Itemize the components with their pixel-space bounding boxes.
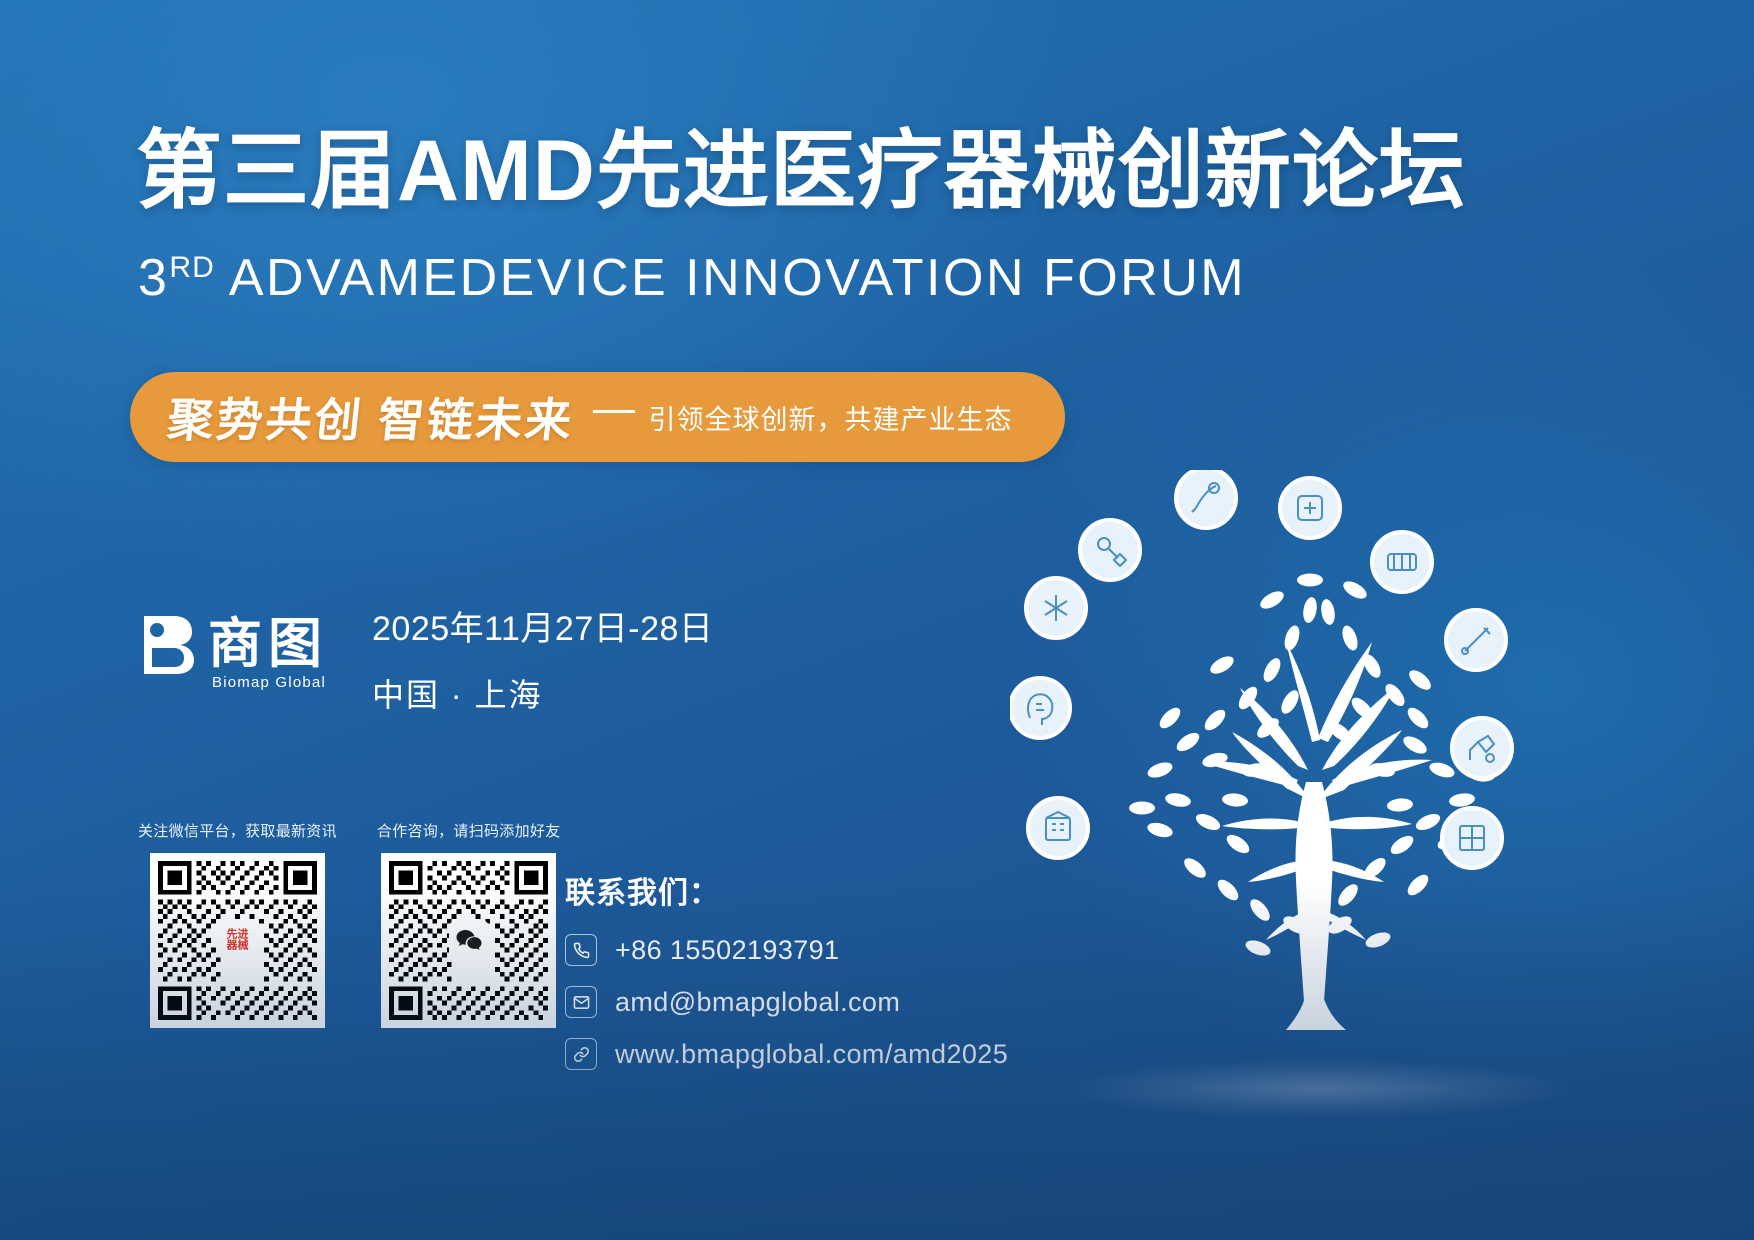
- event-poster: 第三届AMD先进医疗器械创新论坛 3RD ADVAMEDEVICE INNOVA…: [0, 0, 1754, 1240]
- tree-icon-bubbles: [1010, 470, 1512, 868]
- event-date: 2025年11月27日-28日: [372, 612, 713, 648]
- brand-name-en: Biomap Global: [212, 674, 326, 691]
- contact-section: 联系我们： +86 15502193791 amd@bmapglobal.com: [565, 868, 1008, 1090]
- mail-icon: [565, 986, 597, 1018]
- page-subtitle: 3RD ADVAMEDEVICE INNOVATION FORUM: [138, 252, 1246, 304]
- brand-logo: 商图 Biomap Global: [140, 612, 328, 676]
- link-icon: [565, 1038, 597, 1070]
- contact-row-email: amd@bmapglobal.com: [565, 986, 1008, 1018]
- contact-row-website: www.bmapglobal.com/amd2025: [565, 1038, 1008, 1070]
- qr-center-label: 先进 器械: [222, 926, 252, 955]
- contact-title: 联系我们：: [565, 868, 1008, 912]
- page-title: 第三届AMD先进医疗器械创新论坛: [136, 128, 1516, 216]
- phone-icon: [565, 934, 597, 966]
- biomap-logo-icon: [140, 612, 196, 676]
- slogan-main-text: 聚势共创 智链未来: [165, 384, 578, 450]
- wechat-icon: [449, 921, 489, 961]
- qr-code-section: 关注微信平台，获取最新资讯: [138, 820, 561, 1028]
- qr-center-line-2: 器械: [226, 941, 248, 953]
- contact-value-email[interactable]: amd@bmapglobal.com: [615, 987, 900, 1018]
- qr-code-wechat-contact[interactable]: [381, 853, 556, 1028]
- slogan-divider-dash: [593, 410, 635, 413]
- qr-caption: 关注微信平台，获取最新资讯: [138, 820, 337, 841]
- qr-center-line-1: 先进: [226, 929, 248, 941]
- subtitle-ordinal-suffix: RD: [169, 251, 214, 284]
- medical-technology-tree-illustration: [1010, 470, 1630, 1070]
- qr-code-wechat-official[interactable]: 先进 器械: [150, 853, 325, 1028]
- event-location: 中国 · 上海: [372, 670, 713, 716]
- contact-value-website[interactable]: www.bmapglobal.com/amd2025: [615, 1039, 1008, 1070]
- subtitle-english-text: ADVAMEDEVICE INNOVATION FORUM: [215, 249, 1246, 307]
- qr-column-wechat-official: 关注微信平台，获取最新资讯: [138, 820, 337, 1028]
- qr-caption: 合作咨询，请扫码添加好友: [377, 820, 561, 841]
- contact-row-phone: +86 15502193791: [565, 934, 1008, 966]
- contact-value-phone[interactable]: +86 15502193791: [615, 935, 839, 966]
- slogan-sub-text: 引领全球创新，共建产业生态: [649, 398, 1013, 437]
- brand-name-cn: 商图: [208, 617, 328, 671]
- qr-column-wechat-contact: 合作咨询，请扫码添加好友: [377, 820, 561, 1028]
- slogan-banner: 聚势共创 智链未来 引领全球创新，共建产业生态: [130, 372, 1065, 462]
- event-details: 2025年11月27日-28日 中国 · 上海: [372, 612, 713, 716]
- subtitle-ordinal-number: 3: [138, 249, 169, 307]
